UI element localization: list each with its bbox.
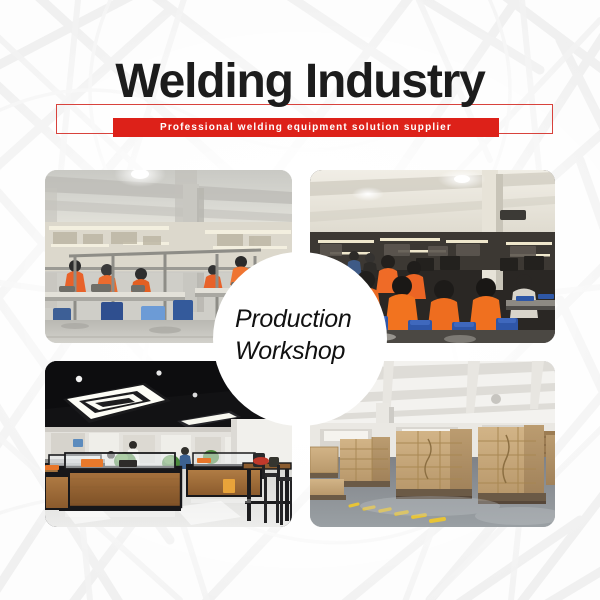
badge-label-line-2: Workshop bbox=[235, 336, 385, 368]
subtitle-banner: Professional welding equipment solution … bbox=[113, 118, 499, 137]
badge-label: Production Workshop bbox=[235, 304, 385, 367]
page-title: Welding Industry bbox=[0, 58, 600, 106]
header: Welding Industry Professional welding eq… bbox=[0, 0, 600, 160]
subtitle-text: Professional welding equipment solution … bbox=[160, 122, 452, 133]
badge-label-line-1: Production bbox=[235, 304, 385, 336]
center-circle-badge: Production Workshop bbox=[213, 252, 387, 426]
